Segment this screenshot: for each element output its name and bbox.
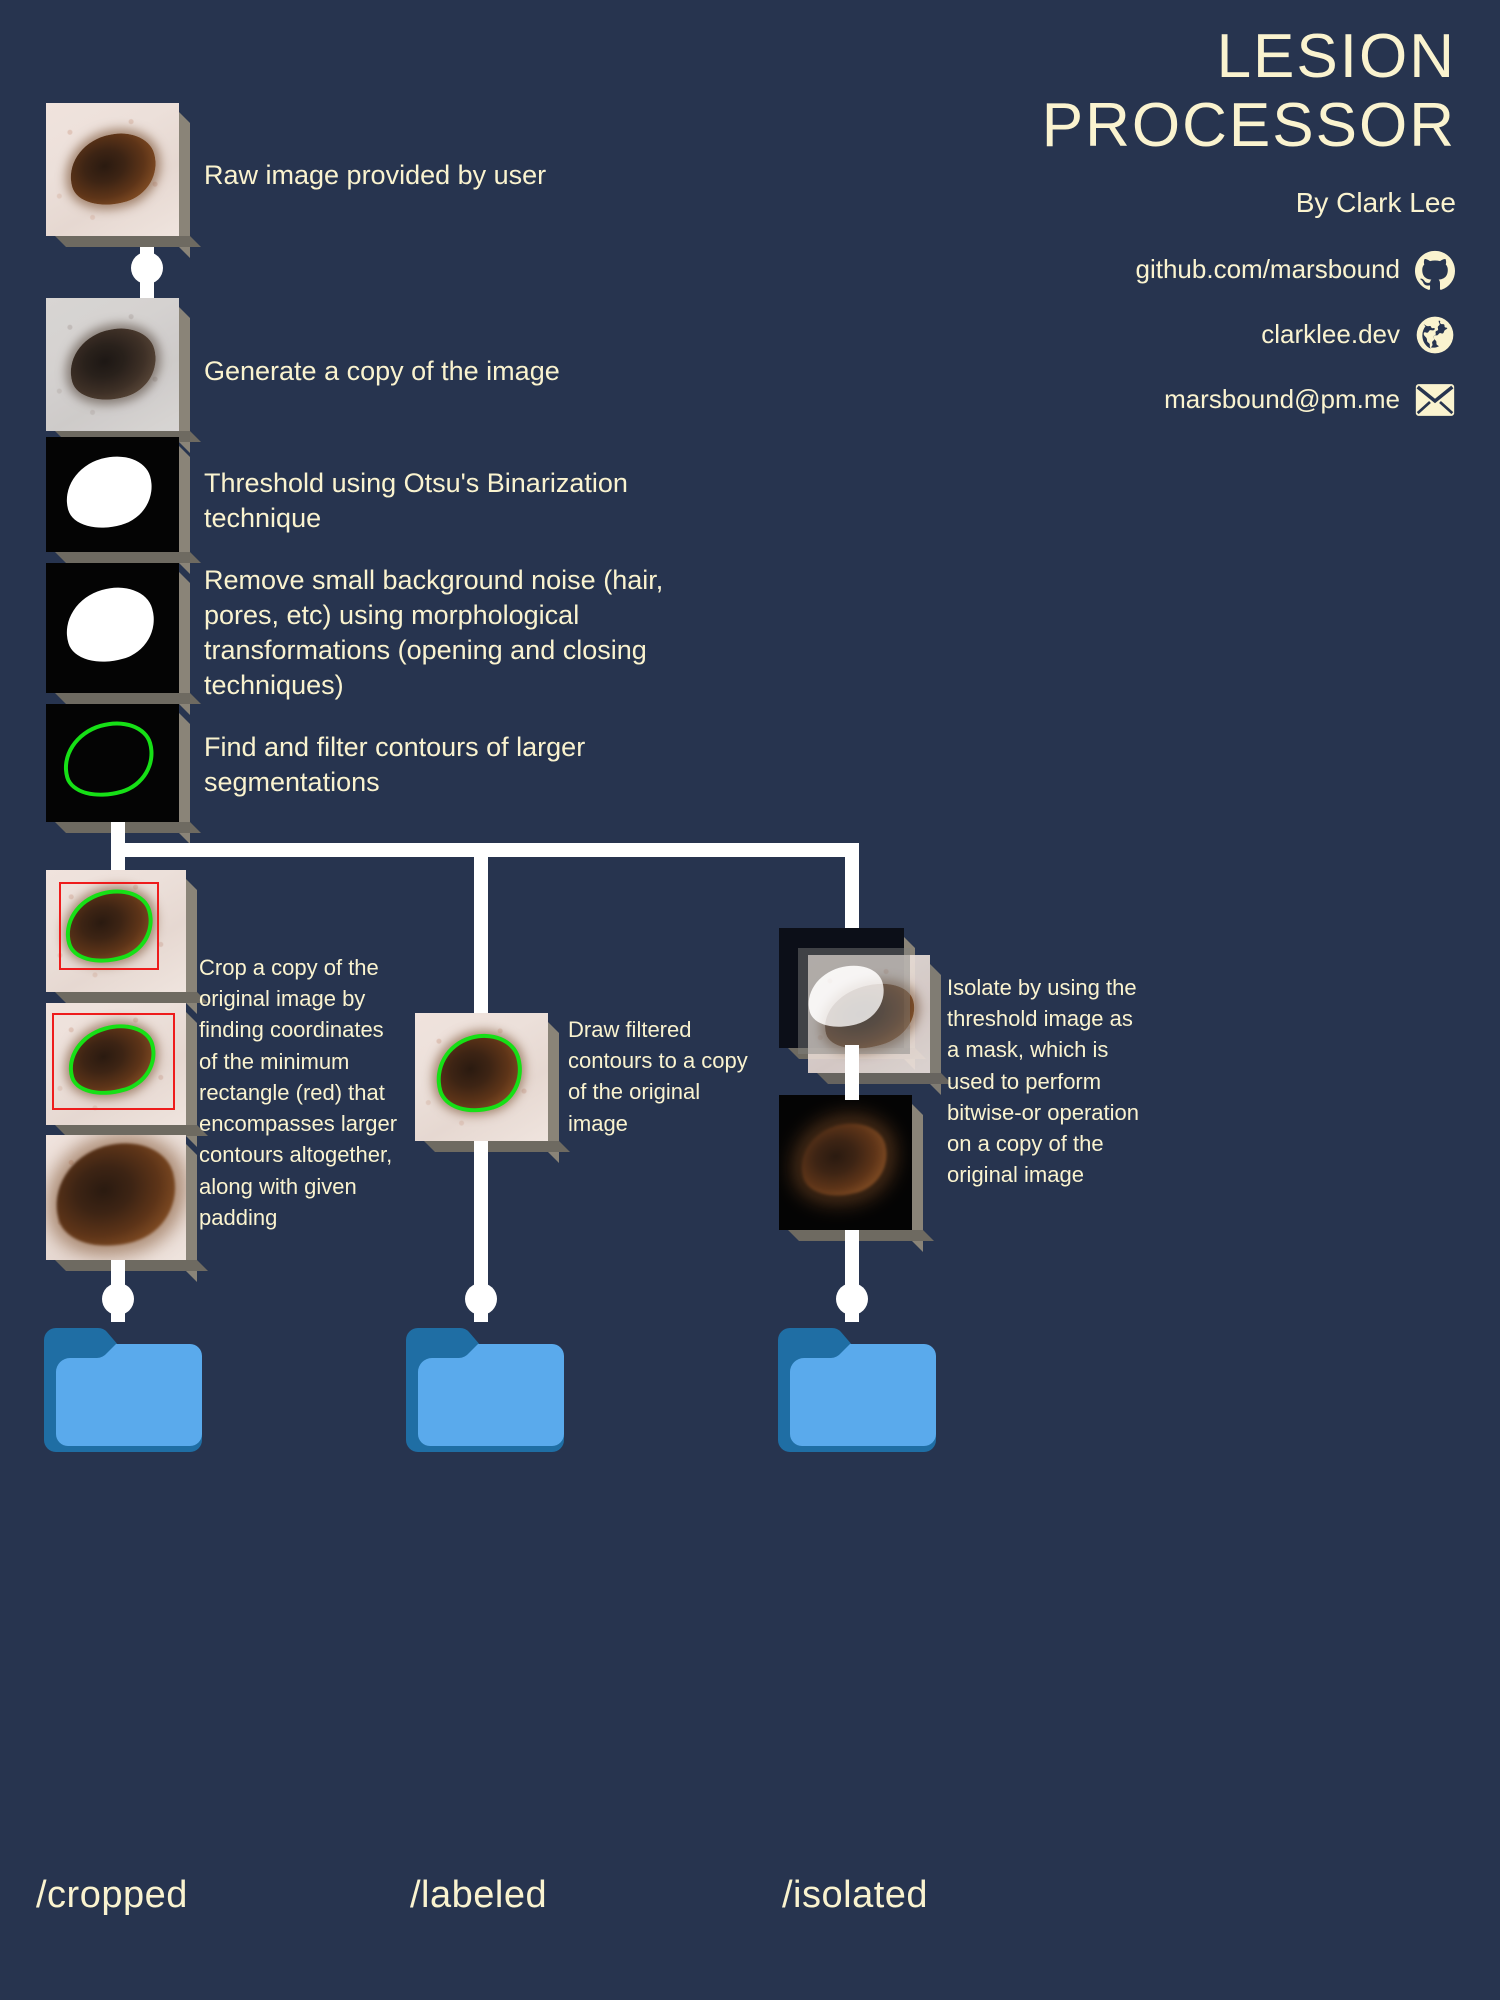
step-text-label: Draw filtered contours to a copy of the … [568,1014,748,1139]
email-icon [1414,379,1456,421]
thumbnail-copy-image [46,298,179,431]
step-text-threshold: Threshold using Otsu's Binarization tech… [204,466,734,536]
thumbnail-labeled-result [415,1013,548,1141]
thumbnail-denoised-image [46,563,179,693]
infographic-canvas: LESION PROCESSOR By Clark Lee github.com… [0,0,1500,2000]
contact-website[interactable]: clarklee.dev [736,314,1456,356]
contact-list: github.com/marsbound clarklee.dev m [736,249,1456,421]
contact-email[interactable]: marsbound@pm.me [736,379,1456,421]
thumbnail-isolate-mask-sheet [798,948,910,1054]
folder-isolated[interactable] [774,1322,936,1454]
globe-icon [1414,314,1456,356]
step-text-raw: Raw image provided by user [204,158,804,193]
thumbnail-threshold-image [46,437,179,552]
thumbnail-crop-rect-a [46,870,186,992]
folder-cropped[interactable] [40,1322,202,1454]
connector-dot-copy [131,252,163,284]
thumbnail-isolated-result [779,1095,912,1230]
contact-github-label: github.com/marsbound [1136,254,1400,285]
byline: By Clark Lee [736,187,1456,219]
folder-label-isolated: /isolated [782,1874,928,1917]
step-text-isolate: Isolate by using the threshold image as … [947,972,1147,1191]
page-title-line2: PROCESSOR [736,91,1456,160]
folder-label-cropped: /cropped [36,1874,188,1917]
github-icon [1414,249,1456,291]
header: LESION PROCESSOR By Clark Lee github.com… [736,22,1456,444]
connector-dot-cropped [102,1283,134,1315]
connector-dot-labeled [465,1283,497,1315]
step-text-crop: Crop a copy of the original image by fin… [199,952,404,1233]
step-text-denoise: Remove small background noise (hair, por… [204,563,744,703]
step-text-contours: Find and filter contours of larger segme… [204,730,724,800]
folder-label-labeled: /labeled [410,1874,547,1917]
connector-branch-middle [474,843,488,1023]
contact-email-label: marsbound@pm.me [1164,384,1400,415]
page-title-line1: LESION [736,22,1456,91]
contact-github[interactable]: github.com/marsbound [736,249,1456,291]
folder-labeled[interactable] [402,1322,564,1454]
thumbnail-contours-image [46,704,179,822]
thumbnail-crop-rect-b [46,1003,186,1125]
thumbnail-raw-image [46,103,179,236]
connector-dot-isolated [836,1283,868,1315]
thumbnail-cropped-result [46,1135,186,1260]
connector-isolate-mid [845,1045,859,1100]
step-text-copy: Generate a copy of the image [204,354,804,389]
contact-website-label: clarklee.dev [1261,319,1400,350]
